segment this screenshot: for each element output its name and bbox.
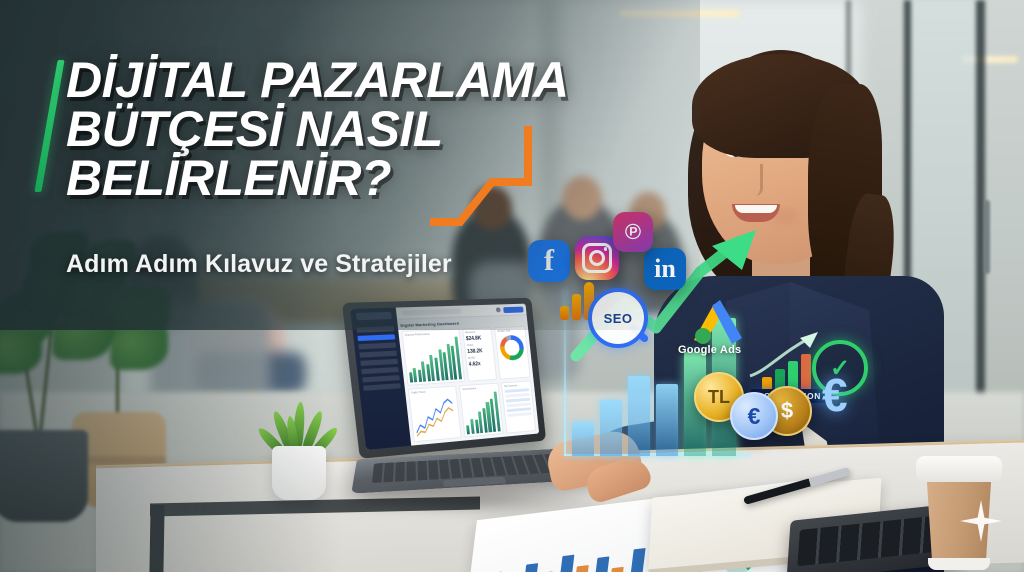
dashboard-row-top: Channel Performance bbox=[401, 326, 531, 385]
sidebar-item-dashboard[interactable] bbox=[357, 334, 394, 341]
card-conversions: Conversions bbox=[459, 382, 503, 437]
euro-coin-icon: € bbox=[730, 392, 778, 440]
headline-line-1: DİJİTAL PAZARLAMA bbox=[66, 56, 706, 105]
kpi-label: Revenue bbox=[465, 330, 489, 334]
sidebar-item-settings[interactable] bbox=[363, 383, 400, 391]
sidebar-item-reports[interactable] bbox=[362, 375, 399, 382]
kpi-label: ROAS bbox=[468, 356, 492, 360]
holo-bar bbox=[656, 384, 678, 456]
kpi-value: $24.8K bbox=[466, 335, 490, 342]
door-handle bbox=[984, 200, 990, 274]
cup-lid bbox=[916, 456, 1002, 482]
bar bbox=[466, 425, 470, 434]
lira-glyph: TL bbox=[708, 387, 730, 408]
sidebar-item-budget[interactable] bbox=[361, 367, 398, 374]
coffee-cup bbox=[916, 452, 1002, 570]
holo-bar bbox=[600, 400, 622, 456]
euro-glyph: € bbox=[748, 403, 761, 430]
sidebar-item-campaigns[interactable] bbox=[358, 342, 395, 349]
bar bbox=[470, 419, 475, 434]
conversion-bar bbox=[801, 354, 811, 394]
kpi-value: 4.62x bbox=[469, 361, 493, 368]
report-bar bbox=[558, 555, 574, 572]
bar bbox=[418, 370, 422, 382]
card-channel-performance: Channel Performance bbox=[401, 329, 465, 386]
sidebar-item-audience[interactable] bbox=[360, 359, 397, 366]
holo-bar bbox=[572, 422, 594, 456]
report-bar bbox=[594, 556, 609, 572]
page-subtitle: Adım Adım Kılavuz ve Stratejiler bbox=[66, 250, 452, 279]
hero-banner: Digital Marketing Dashboard Channel Perf… bbox=[0, 0, 1024, 572]
bar bbox=[409, 372, 413, 382]
line-chart bbox=[411, 393, 458, 439]
sidebar-item-analytics[interactable] bbox=[359, 351, 396, 358]
report-bar bbox=[574, 565, 589, 572]
bar-chart bbox=[405, 337, 462, 382]
report-bar bbox=[522, 563, 538, 572]
report-bar bbox=[630, 548, 646, 572]
nose bbox=[744, 164, 763, 196]
card-traffic-trend: Traffic Trend bbox=[407, 385, 462, 442]
kpi-label: Clicks bbox=[467, 343, 491, 347]
report-bar bbox=[610, 567, 624, 572]
bar bbox=[413, 368, 417, 381]
kpi-value: 138.2K bbox=[467, 348, 491, 355]
headline-line-3: BELİRLENİR? bbox=[66, 154, 706, 203]
card-kpis: Revenue $24.8K Clicks 138.2K ROAS 4.62x bbox=[462, 327, 497, 381]
page-title: DİJİTAL PAZARLAMA BÜTÇESİ NASIL BELİRLEN… bbox=[66, 56, 706, 203]
cup-base bbox=[928, 558, 990, 570]
bar-chart-growth bbox=[463, 390, 501, 434]
holo-bar bbox=[628, 376, 650, 456]
dollar-glyph: $ bbox=[781, 398, 793, 424]
google-ads-label: Google Ads bbox=[678, 344, 741, 356]
headline-line-2: BÜTÇESİ NASIL bbox=[66, 105, 706, 154]
euro-large-icon: € bbox=[822, 368, 848, 422]
